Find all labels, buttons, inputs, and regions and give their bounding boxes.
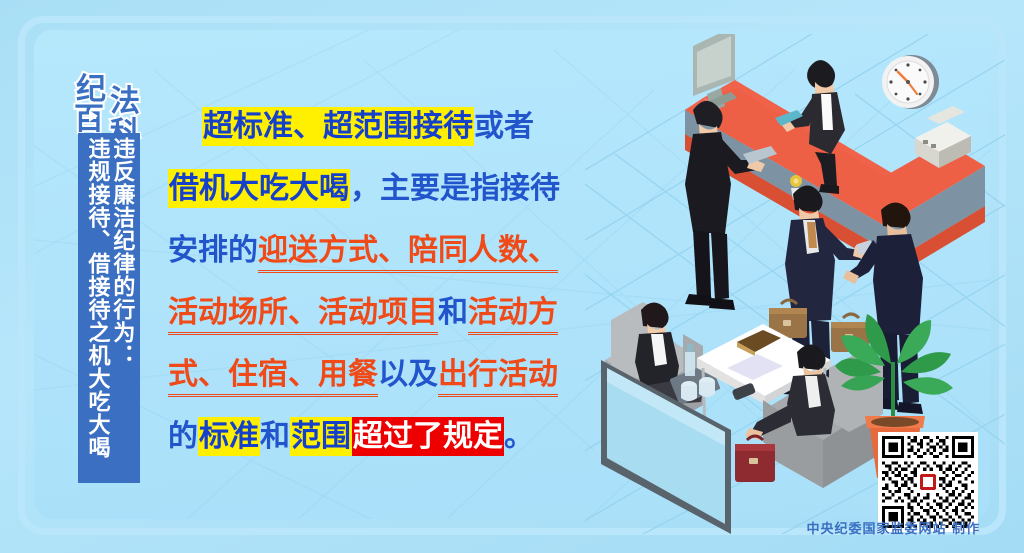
body-line-5-segment-1: 式、住宿、用餐 bbox=[168, 357, 378, 397]
banner-column-right: 违反廉洁纪律的行为： bbox=[110, 137, 133, 367]
qr-code[interactable] bbox=[878, 432, 978, 532]
wall-clock-graphic bbox=[882, 55, 939, 109]
body-line-2-segment-2: ，主要是指接待 bbox=[350, 171, 560, 206]
vertical-title-banner: 违反廉洁纪律的行为： 违规接待、借接待之机大吃大喝 bbox=[78, 133, 140, 483]
body-line-1: 超标准、超范围接待或者 bbox=[168, 96, 568, 158]
body-line-4-segment-1: 活动场所、活动项目 bbox=[168, 295, 438, 335]
body-line-6: 的标准和范围超过了规定。 bbox=[168, 406, 568, 468]
body-line-1-segment-2: 或者 bbox=[474, 109, 534, 144]
body-line-6-segment-3: 和 bbox=[260, 419, 290, 454]
body-line-5-segment-3: 出行活动 bbox=[438, 357, 558, 397]
body-line-6-segment-6: 。 bbox=[504, 419, 534, 454]
body-line-6-segment-2: 标准 bbox=[198, 417, 260, 456]
body-line-3-segment-1: 安排的 bbox=[168, 233, 258, 268]
body-line-1-segment-1: 超标准、超范围接待 bbox=[202, 107, 474, 146]
body-line-5-segment-2: 以及 bbox=[378, 357, 438, 392]
body-line-2: 借机大吃大喝，主要是指接待 bbox=[168, 158, 568, 220]
body-line-4: 活动场所、活动项目和活动方 bbox=[168, 282, 568, 344]
body-line-6-segment-1: 的 bbox=[168, 419, 198, 454]
body-line-5: 式、住宿、用餐以及出行活动 bbox=[168, 344, 568, 406]
body-line-4-segment-3: 活动方 bbox=[468, 295, 558, 335]
play-icon bbox=[89, 110, 98, 122]
footer-credit: 中央纪委国家监委网站 制作 bbox=[806, 518, 980, 537]
body-line-3: 安排的迎送方式、陪同人数、 bbox=[168, 220, 568, 282]
banner-column-left: 违规接待、借接待之机大吃大喝 bbox=[85, 137, 108, 459]
body-line-6-segment-5: 超过了规定 bbox=[352, 417, 504, 456]
body-line-4-segment-2: 和 bbox=[438, 295, 468, 330]
body-line-6-segment-4: 范围 bbox=[290, 417, 352, 456]
body-line-2-segment-1: 借机大吃大喝 bbox=[168, 169, 350, 208]
body-line-3-segment-2: 迎送方式、陪同人数、 bbox=[258, 233, 558, 273]
poster-canvas: 纪 法 百 科 违反廉洁纪律的行为： 违规接待、借接待之机大吃大喝 超标准、超范… bbox=[0, 0, 1024, 553]
main-text-block: 超标准、超范围接待或者借机大吃大喝，主要是指接待安排的迎送方式、陪同人数、活动场… bbox=[168, 96, 568, 468]
